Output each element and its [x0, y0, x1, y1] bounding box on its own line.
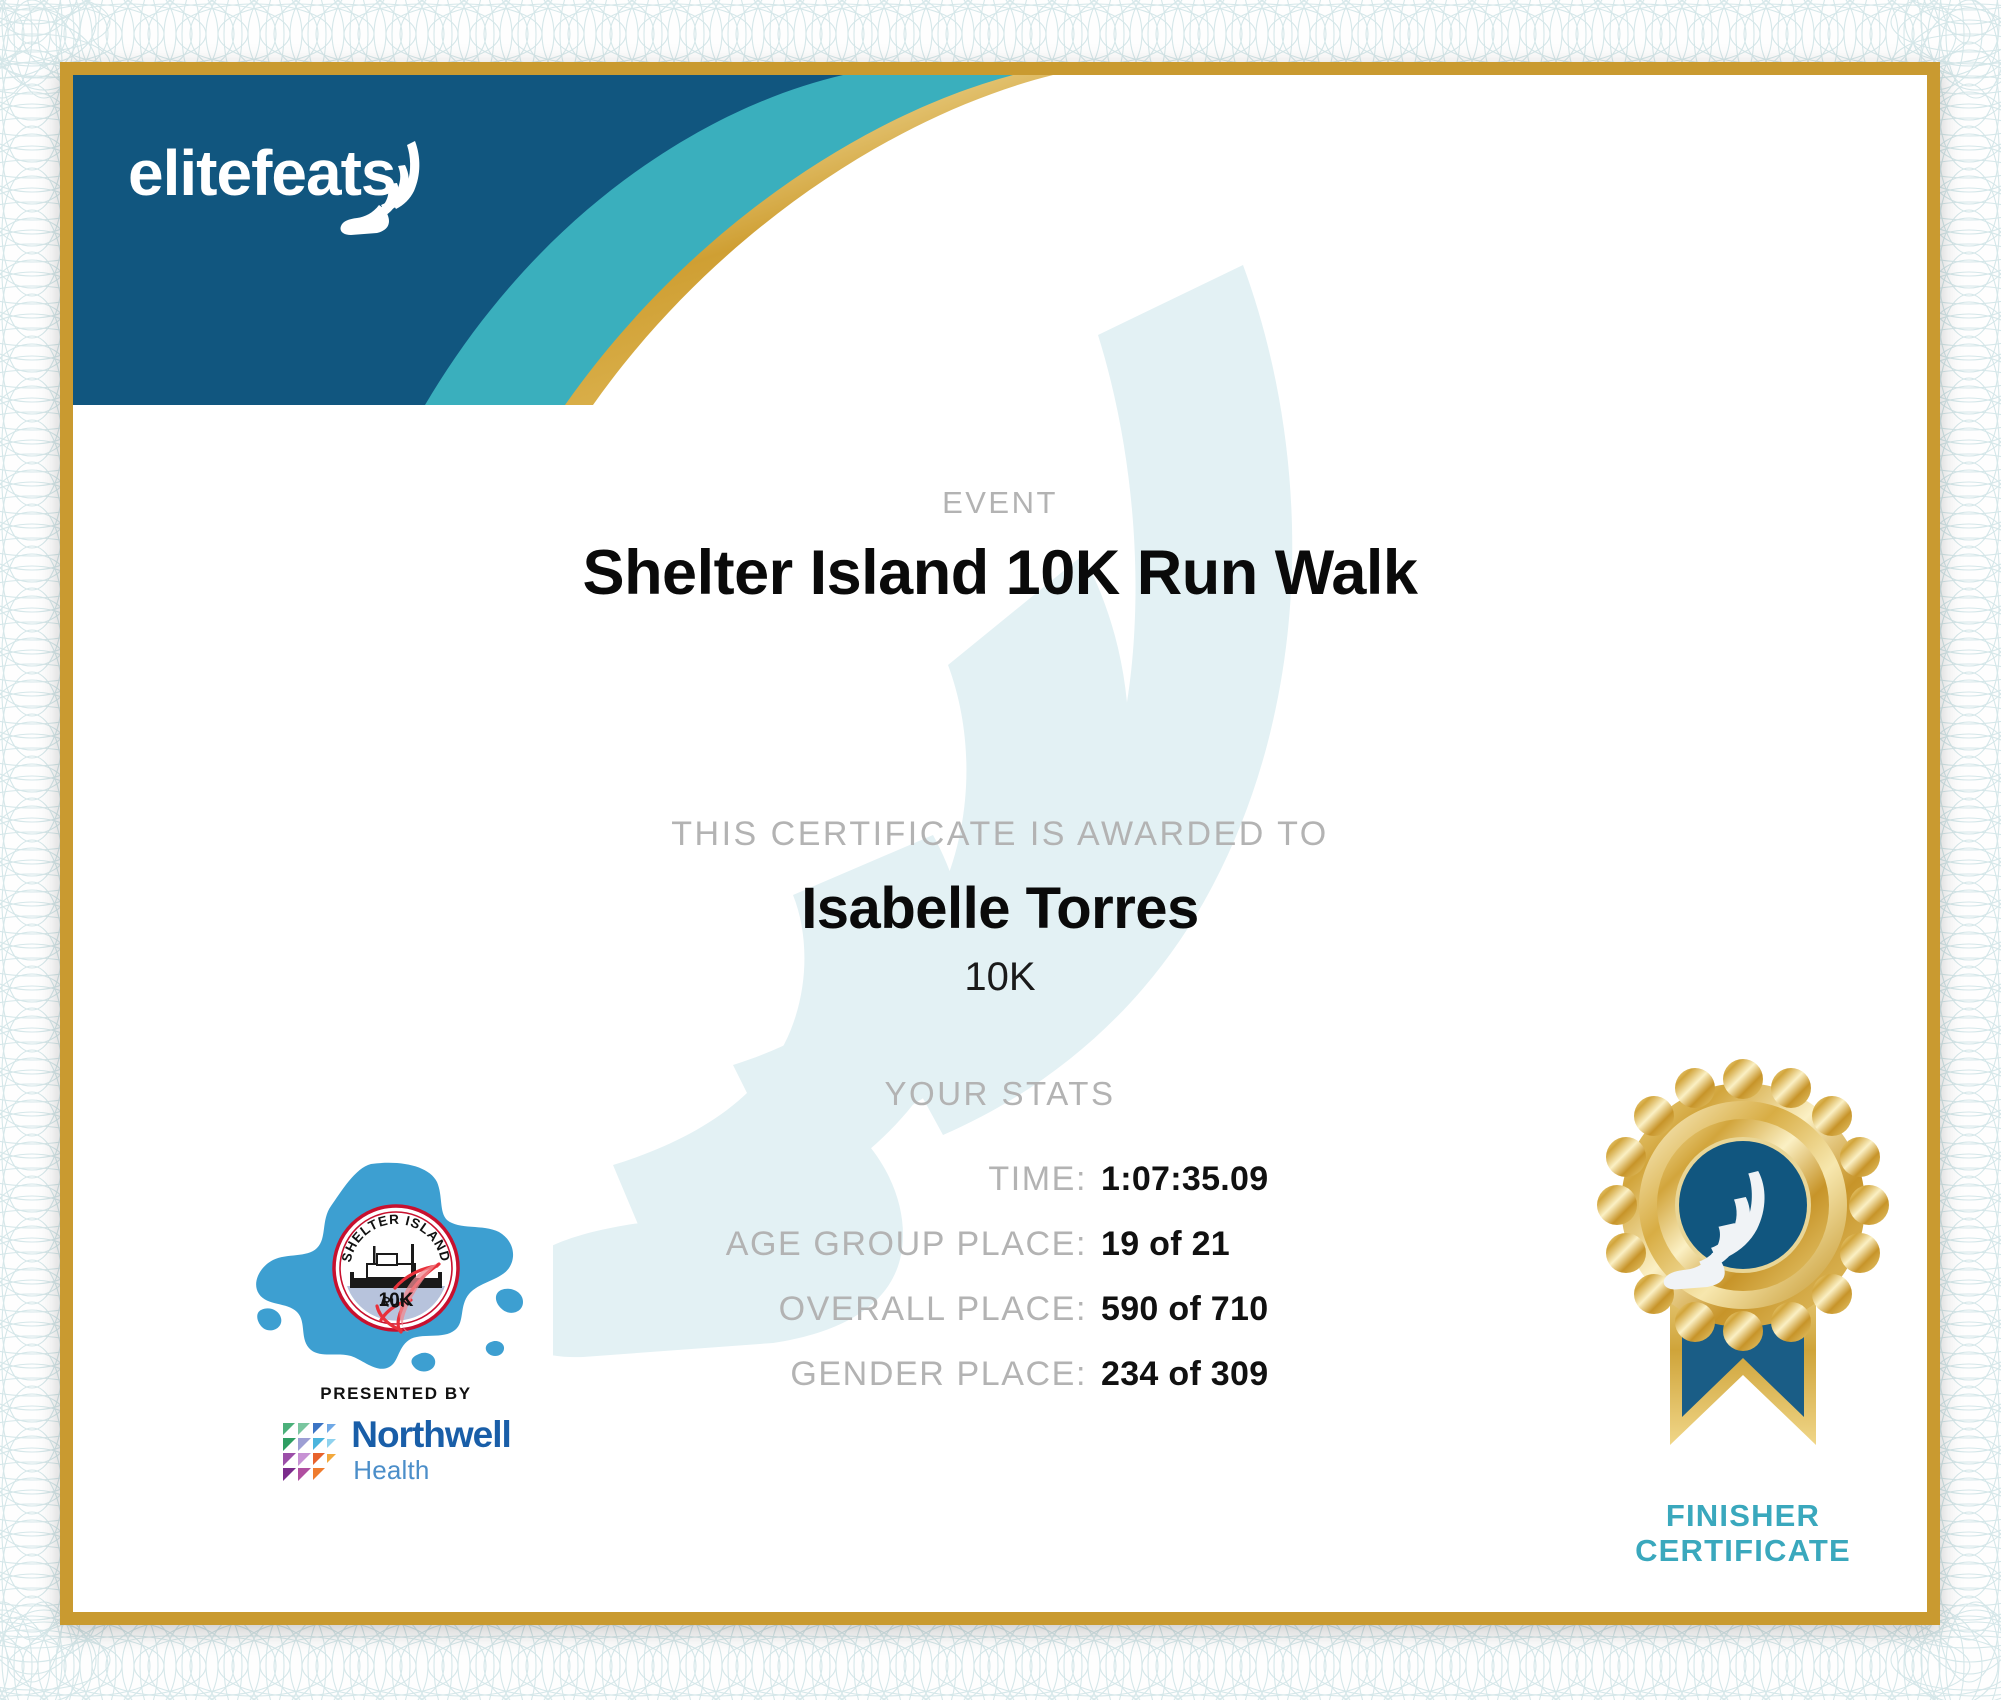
header-banner: elitefeats — [73, 75, 1053, 405]
stat-value: 1:07:35.09 — [1101, 1160, 1316, 1199]
stat-key: GENDER PLACE: — [790, 1355, 1087, 1394]
stat-key: AGE GROUP PLACE: — [726, 1225, 1087, 1264]
event-label: EVENT — [73, 485, 1927, 521]
race-logo-distance: 10K — [379, 1290, 414, 1311]
certificate-paper: elitefeats EVENT Shelter Island 10K R — [60, 62, 1940, 1625]
event-title: Shelter Island 10K Run Walk — [73, 537, 1927, 609]
race-logo-block: SHELTER ISLAND RUN 10K PRESENTED BY — [251, 1160, 541, 1483]
finisher-caption-line2: CERTIFICATE — [1553, 1533, 1933, 1568]
presented-by-label: PRESENTED BY — [251, 1384, 541, 1404]
awarded-to-label: THIS CERTIFICATE IS AWARDED TO — [73, 815, 1927, 854]
finisher-caption-line1: FINISHER — [1553, 1498, 1933, 1533]
certificate-root: elitefeats EVENT Shelter Island 10K R — [0, 0, 2001, 1700]
stat-value: 234 of 309 — [1101, 1355, 1316, 1394]
race-distance: 10K — [73, 955, 1927, 1000]
recipient-name: Isabelle Torres — [73, 875, 1927, 942]
sponsor-logo: Northwell Health — [251, 1416, 541, 1483]
northwell-grid-icon — [281, 1419, 343, 1481]
stat-key: OVERALL PLACE: — [779, 1290, 1087, 1329]
shelter-island-10k-logo-icon: SHELTER ISLAND RUN 10K — [251, 1160, 541, 1375]
stat-value: 19 of 21 — [1101, 1225, 1316, 1264]
finisher-medal-block: 2023 — [1553, 1055, 1933, 1569]
finisher-medal-icon: 2023 — [1578, 1055, 1908, 1485]
sponsor-subname: Health — [353, 1457, 429, 1483]
brand-wordmark: elitefeats — [128, 137, 395, 209]
stat-value: 590 of 710 — [1101, 1290, 1316, 1329]
stat-key: TIME: — [988, 1160, 1087, 1199]
sponsor-name: Northwell — [351, 1416, 511, 1453]
finisher-caption: FINISHER CERTIFICATE — [1553, 1498, 1933, 1569]
